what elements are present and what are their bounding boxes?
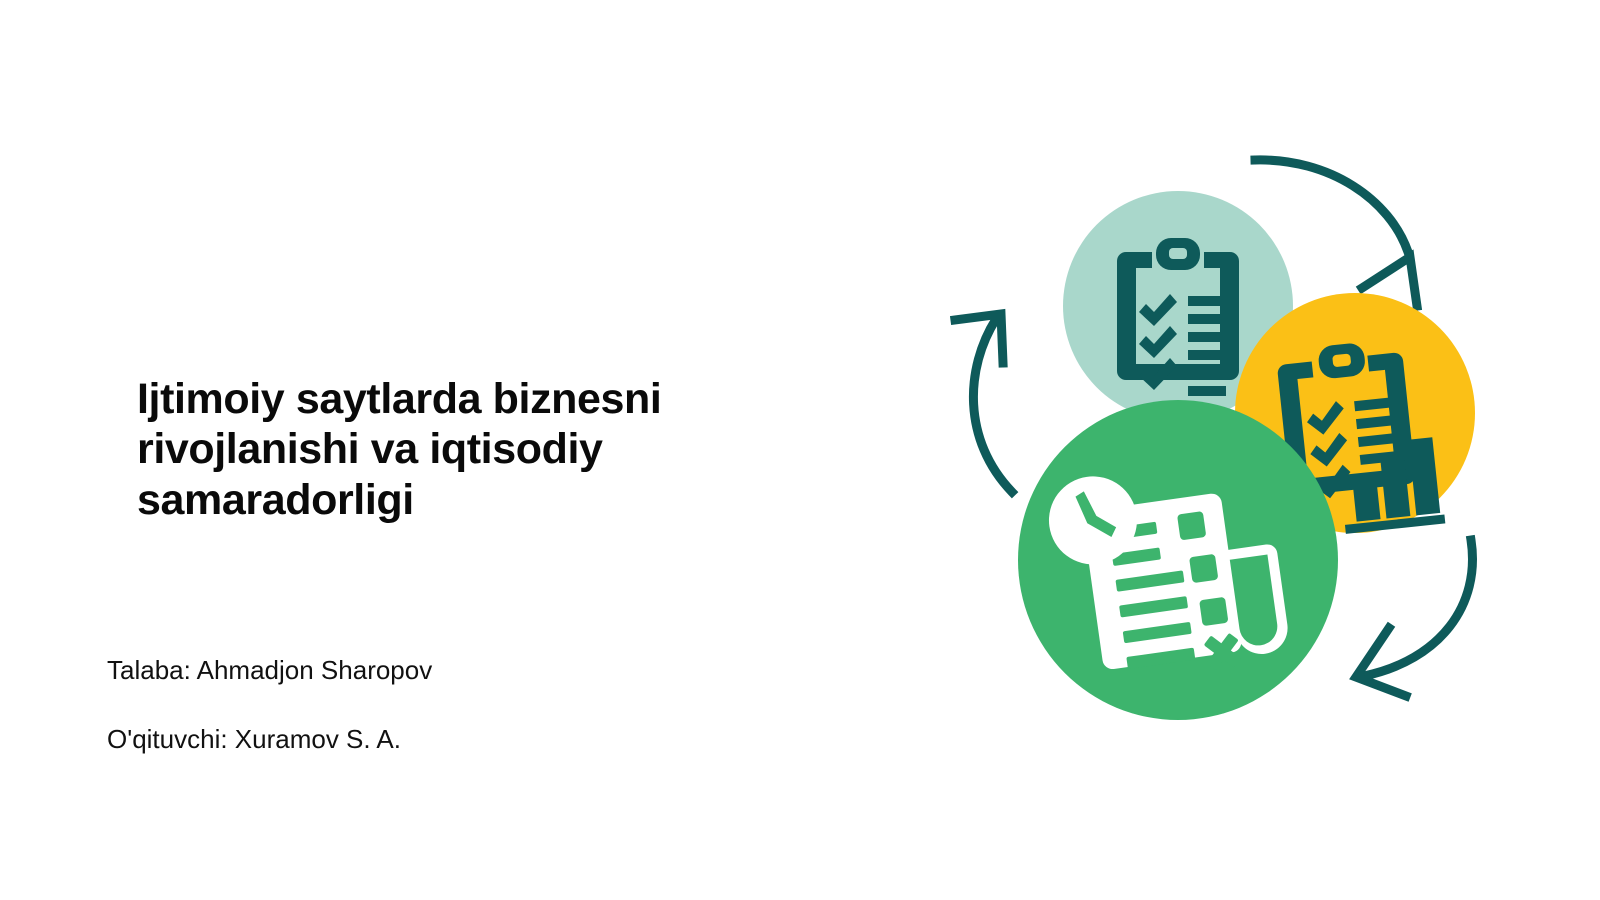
arrow-bottom-right-icon <box>1356 540 1472 696</box>
byline-block: Talaba: Ahmadjon Sharopov O'qituvchi: Xu… <box>107 655 787 755</box>
page-title: Ijtimoiy saytlarda biznesni rivojlanishi… <box>137 374 777 525</box>
teacher-line: O'qituvchi: Xuramov S. A. <box>107 724 787 755</box>
student-line: Talaba: Ahmadjon Sharopov <box>107 655 787 686</box>
title-slide: Ijtimoiy saytlarda biznesni rivojlanishi… <box>0 0 1600 900</box>
illustration-three-circles <box>940 120 1540 740</box>
text-column: Ijtimoiy saytlarda biznesni rivojlanishi… <box>137 0 797 900</box>
arrow-left-up-icon <box>955 314 1012 492</box>
